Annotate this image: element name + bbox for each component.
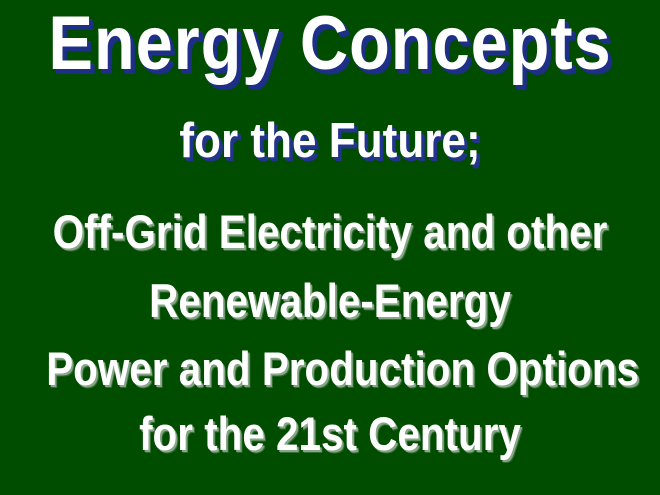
slide-body-line-3: Power and Production Options [46,345,614,392]
slide-subtitle: for the Future; [33,117,627,166]
slide-main-title: Energy Concepts [40,6,621,82]
slide-body-line-2: Renewable-Energy [46,277,614,324]
slide-body-line-4: for the 21st Century [46,410,614,457]
slide-body-line-1: Off-Grid Electricity and other [46,208,614,255]
title-slide: Energy Concepts for the Future; Off-Grid… [0,0,660,495]
